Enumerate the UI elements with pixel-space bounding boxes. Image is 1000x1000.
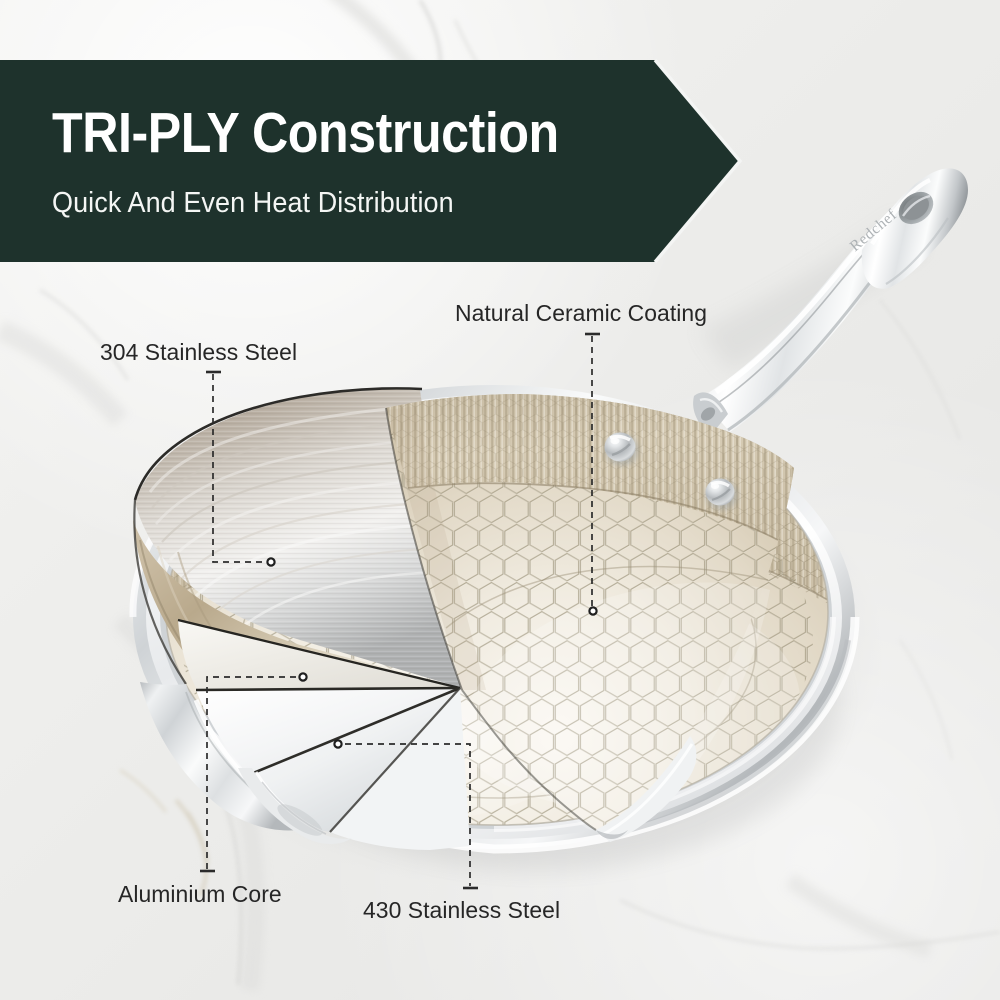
banner-subtitle: Quick And Even Heat Distribution	[52, 187, 454, 220]
pan-handle: Redchef	[693, 168, 968, 434]
callout-label-natural-ceramic-coating: Natural Ceramic Coating	[455, 300, 707, 327]
callout-label-430-stainless-steel: 430 Stainless Steel	[363, 897, 560, 924]
banner-title: TRI-PLY Construction	[52, 103, 559, 163]
callout-label-304-stainless-steel: 304 Stainless Steel	[100, 339, 297, 366]
infographic-canvas: Redchef	[0, 0, 1000, 1000]
callout-label-aluminium-core: Aluminium Core	[118, 881, 282, 908]
